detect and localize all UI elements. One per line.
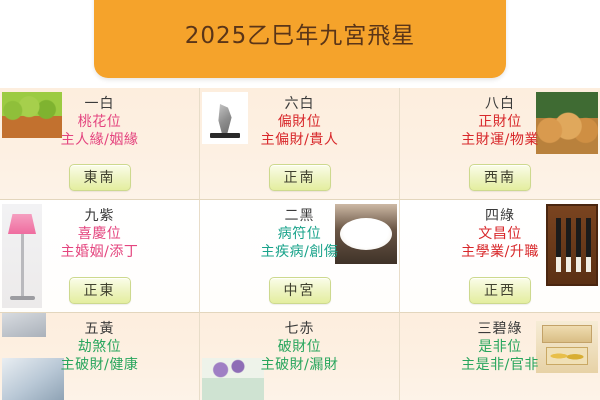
pink-lamp-icon bbox=[2, 204, 42, 308]
brush-holder-icon bbox=[546, 204, 598, 286]
grid-cell-eight[interactable]: 七赤 破財位 主破財/漏財 bbox=[200, 313, 400, 400]
grid-cell-seven[interactable]: 五黃 劫煞位 主破財/健康 bbox=[0, 313, 200, 400]
grid-cell-south[interactable]: 六白 偏財位 主偏財/貴人 正南 bbox=[200, 88, 400, 200]
rice-bowl-icon bbox=[335, 204, 397, 264]
feng-shui-flying-star-chart: 2025乙巳年九宮飛星 一白 桃花位 主人緣/姻緣 東南 六白 偏財位 主偏財/… bbox=[0, 0, 600, 400]
title-banner: 2025乙巳年九宮飛星 bbox=[94, 0, 506, 78]
grid-cell-southwest[interactable]: 八白 正財位 主財運/物業 西南 bbox=[400, 88, 600, 200]
grid-cell-southeast[interactable]: 一白 桃花位 主人緣/姻緣 東南 bbox=[0, 88, 200, 200]
title-area: 2025乙巳年九宮飛星 bbox=[0, 0, 600, 88]
lavender-plant-icon bbox=[202, 358, 264, 400]
direction-badge[interactable]: 中宮 bbox=[269, 277, 331, 304]
grid-cell-east[interactable]: 九紫 喜慶位 主婚姻/添丁 正東 bbox=[0, 200, 200, 313]
grid-cell-nine[interactable]: 三碧綠 是非位 主是非/官非 bbox=[400, 313, 600, 400]
nine-palace-grid: 一白 桃花位 主人緣/姻緣 東南 六白 偏財位 主偏財/貴人 正南 八白 正財位 bbox=[0, 88, 600, 400]
star-name: 七赤 bbox=[200, 321, 399, 339]
fortune-figurines-icon bbox=[536, 92, 598, 154]
position-name: 劫煞位 bbox=[0, 339, 199, 357]
horse-statue-icon bbox=[202, 92, 248, 144]
gold-ingot-box-icon bbox=[536, 321, 598, 373]
direction-badge[interactable]: 正東 bbox=[69, 277, 131, 304]
grid-cell-west[interactable]: 四綠 文昌位 主學業/升職 正西 bbox=[400, 200, 600, 313]
position-name: 破財位 bbox=[200, 339, 399, 357]
direction-badge[interactable]: 正西 bbox=[469, 277, 531, 304]
page-title: 2025乙巳年九宮飛星 bbox=[185, 25, 416, 48]
direction-badge[interactable]: 西南 bbox=[469, 164, 531, 191]
grid-cell-center[interactable]: 二黑 病符位 主疾病/創傷 中宮 bbox=[200, 200, 400, 313]
potted-plants-icon bbox=[2, 92, 62, 138]
blue-grey-object-icon bbox=[2, 358, 64, 400]
direction-badge[interactable]: 正南 bbox=[269, 164, 331, 191]
metal-object-icon bbox=[2, 313, 46, 337]
direction-badge[interactable]: 東南 bbox=[69, 164, 131, 191]
